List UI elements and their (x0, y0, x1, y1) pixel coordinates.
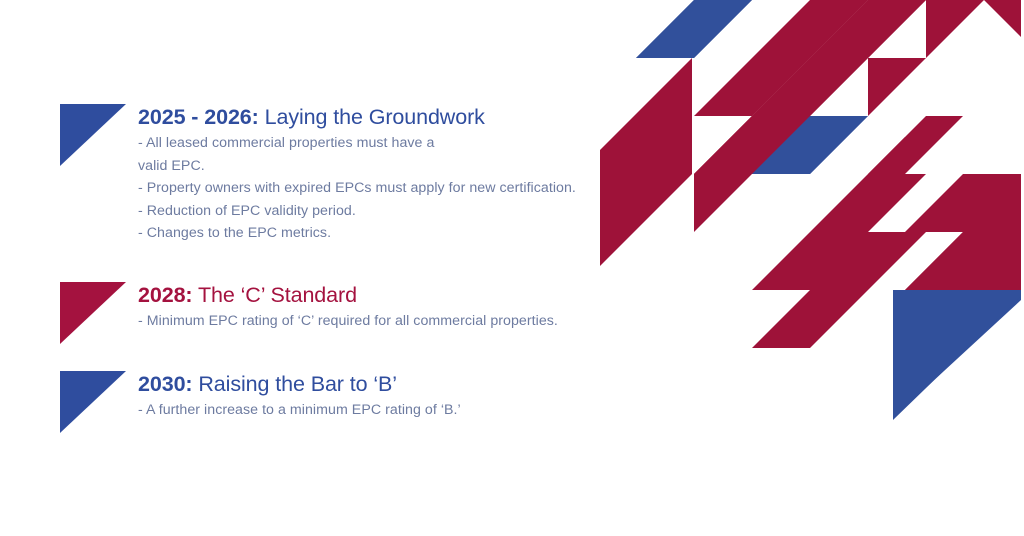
diagonal-geometric-pattern (0, 0, 1024, 536)
pattern-shape-red-right-block-reinstate (905, 174, 1021, 232)
pattern-shape-red-over-blue (694, 0, 926, 174)
pattern-shape-blue-triangle-bottom (893, 290, 1021, 418)
pattern-shape-blue-parallelogram-top (636, 0, 752, 58)
timeline-entry-body: 2025 - 2026: Laying the Groundwork- All … (138, 104, 678, 245)
pattern-shape-blue-triangle-bottom-fill (893, 290, 1021, 418)
pattern-shape-red-parallelogram-upper (752, 0, 868, 58)
pattern-shape-red-triangle-ur-a (926, 0, 984, 58)
timeline-entry-title: The ‘C’ Standard (198, 283, 357, 307)
pattern-shape-red-parallelogram-band2-left (694, 58, 810, 116)
timeline-entry-title: Raising the Bar to ‘B’ (198, 372, 397, 396)
timeline-entry-year: 2030: (138, 372, 193, 396)
triangle-marker-icon (60, 371, 126, 433)
slide-canvas: 2025 - 2026: Laying the Groundwork- All … (0, 0, 1024, 536)
pattern-shape-red-diag-reinstate (868, 116, 963, 174)
pattern-shape-blue-square-restore (752, 116, 810, 174)
pattern-shape-blue-top-restore (636, 0, 752, 58)
pattern-shape-red-right-triangle-reinstate (905, 232, 1021, 290)
timeline-entry-bullet: - Reduction of EPC validity period. (138, 200, 678, 223)
timeline-entry-bullet-list: - Minimum EPC rating of ‘C’ required for… (138, 310, 678, 333)
timeline-entry-body: 2030: Raising the Bar to ‘B’- A further … (138, 371, 678, 422)
timeline-entry-year: 2025 - 2026: (138, 105, 259, 129)
pattern-shape-red-parallelogram-col2 (694, 116, 752, 232)
timeline-entry-bullet-list: - A further increase to a minimum EPC ra… (138, 399, 678, 422)
pattern-mask-blue-clear (893, 290, 1021, 420)
pattern-shape-red-diag-rightlower (810, 116, 984, 232)
triangle-marker-icon (60, 104, 126, 166)
timeline-entry-heading: 2025 - 2026: Laying the Groundwork (138, 104, 678, 130)
timeline-entry-year: 2028: (138, 283, 193, 307)
timeline-entry-bullet: - Property owners with expired EPCs must… (138, 177, 678, 200)
timeline-entry-bullet: - Changes to the EPC metrics. (138, 222, 678, 245)
timeline-entry-bullet: - Minimum EPC rating of ‘C’ required for… (138, 310, 678, 333)
pattern-shape-red-triangle-band2-right (868, 58, 926, 116)
timeline-entry-title: Laying the Groundwork (265, 105, 485, 129)
triangle-marker-icon (60, 282, 126, 344)
timeline-entry-body: 2028: The ‘C’ Standard- Minimum EPC rati… (138, 282, 678, 333)
timeline-entry-bullet-list: - All leased commercial properties must … (138, 132, 678, 245)
pattern-shape-red-triangle-right-lower (905, 174, 1021, 290)
pattern-shape-blue-wedge-restore (752, 116, 868, 174)
pattern-shape-red-triangle-ur-b (984, 0, 1021, 37)
pattern-shape-red-diagonal-main (694, 0, 926, 174)
pattern-shape-blue-block-mid (752, 116, 868, 174)
pattern-mask-right-whiteband (905, 116, 1022, 174)
pattern-mask-band-gap-right (926, 174, 1022, 232)
pattern-shape-red-step-lower (752, 232, 926, 348)
timeline-entry-heading: 2030: Raising the Bar to ‘B’ (138, 371, 678, 397)
timeline-entry-bullet: - All leased commercial properties must … (138, 132, 678, 177)
pattern-shape-blue-square-mid (752, 116, 810, 174)
timeline-entry-bullet: - A further increase to a minimum EPC ra… (138, 399, 678, 422)
timeline-entry-heading: 2028: The ‘C’ Standard (138, 282, 678, 308)
